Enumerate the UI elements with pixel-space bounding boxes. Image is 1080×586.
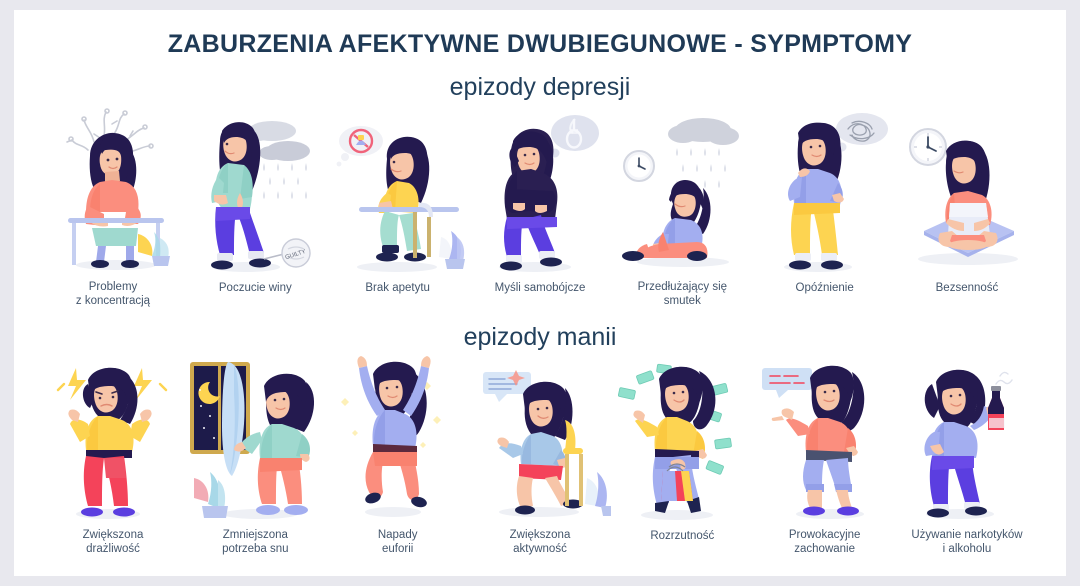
symptom-card-uzywanie-narkotykow-i-alkoholu: Używanie narkotyków i alkoholu <box>896 354 1038 557</box>
symptom-label: Używanie narkotyków i alkoholu <box>911 528 1022 557</box>
symptom-label: Poczucie winy <box>219 281 292 309</box>
symptom-label: Myśli samobójcze <box>495 281 586 309</box>
woman-pillow-clock-insomnia-icon <box>896 107 1038 275</box>
woman-walking-guilt-ball-rain-icon: GUILTY <box>184 107 326 275</box>
symptom-label: Napady euforii <box>378 528 418 557</box>
symptom-card-brak-apetytu: Brak apetytu <box>327 107 469 309</box>
symptom-label: Zwiększona aktywność <box>510 528 571 557</box>
symptom-label: Przedłużający się smutek <box>638 280 727 309</box>
woman-money-shopping-bags-icon <box>611 355 753 523</box>
symptom-label: Rozrzutność <box>650 529 714 557</box>
person-hoodie-noose-bubble-icon <box>469 107 611 275</box>
woman-at-table-no-food-bubble-icon <box>327 107 469 275</box>
woman-on-chair-talking-icon <box>469 354 611 522</box>
symptom-card-opoznienie: Opóźnienie <box>754 107 896 309</box>
woman-thinking-tangled-bubble-icon <box>754 107 896 275</box>
symptom-card-problemy-z-koncentracja: Problemy z koncentracją <box>42 106 184 309</box>
symptom-card-mysli-samobojcze: Myśli samobójcze <box>469 107 611 309</box>
symptom-card-zwiekszona-drazliwosc: Zwiększona drażliwość <box>42 354 184 557</box>
symptom-card-przedluzajacy-sie-smutek: Przedłużający się smutek <box>611 106 753 309</box>
woman-holding-bottle-icon <box>896 354 1038 522</box>
symptom-label: Brak apetytu <box>365 281 430 309</box>
symptom-label: Prowokacyjne zachowanie <box>789 528 861 557</box>
page-title: ZABURZENIA AFEKTYWNE DWUBIEGUNOWE - SYPM… <box>14 30 1066 59</box>
infographic-poster: ZABURZENIA AFEKTYWNE DWUBIEGUNOWE - SYPM… <box>14 10 1066 576</box>
symptom-card-zmniejszona-potrzeba-snu: Zmniejszona potrzeba snu <box>184 354 326 557</box>
section-heading-mania: epizody manii <box>14 323 1066 352</box>
woman-night-window-moon-icon <box>184 354 326 522</box>
symptom-card-bezsennosc: Bezsenność <box>896 107 1038 309</box>
symptom-card-poczucie-winy: GUILTY Poczucie winy <box>184 107 326 309</box>
woman-angry-lightning-icon <box>42 354 184 522</box>
depression-symptom-row: Problemy z koncentracją <box>14 106 1066 309</box>
section-heading-depression: epizody depresji <box>14 73 1066 102</box>
symptom-label: Zmniejszona potrzeba snu <box>222 528 289 557</box>
symptom-card-zwiekszona-aktywnosc: Zwiększona aktywność <box>469 354 611 557</box>
symptom-label: Bezsenność <box>936 281 999 309</box>
woman-at-desk-scattered-thoughts-icon <box>42 106 184 274</box>
symptom-card-prowokacyjne-zachowanie: Prowokacyjne zachowanie <box>754 354 896 557</box>
symptom-label: Opóźnienie <box>796 281 854 309</box>
symptom-label: Zwiększona drażliwość <box>83 528 144 557</box>
mania-symptom-row: Zwiększona drażliwość <box>14 354 1066 557</box>
woman-sitting-rain-cloud-clock-icon <box>611 106 753 274</box>
symptom-card-napady-euforii: Napady euforii <box>327 354 469 557</box>
symptom-card-rozrzutnosc: Rozrzutność <box>611 355 753 557</box>
woman-pointing-speech-bubble-icon <box>754 354 896 522</box>
woman-jumping-joy-icon <box>327 354 469 522</box>
symptom-label: Problemy z koncentracją <box>76 280 150 309</box>
